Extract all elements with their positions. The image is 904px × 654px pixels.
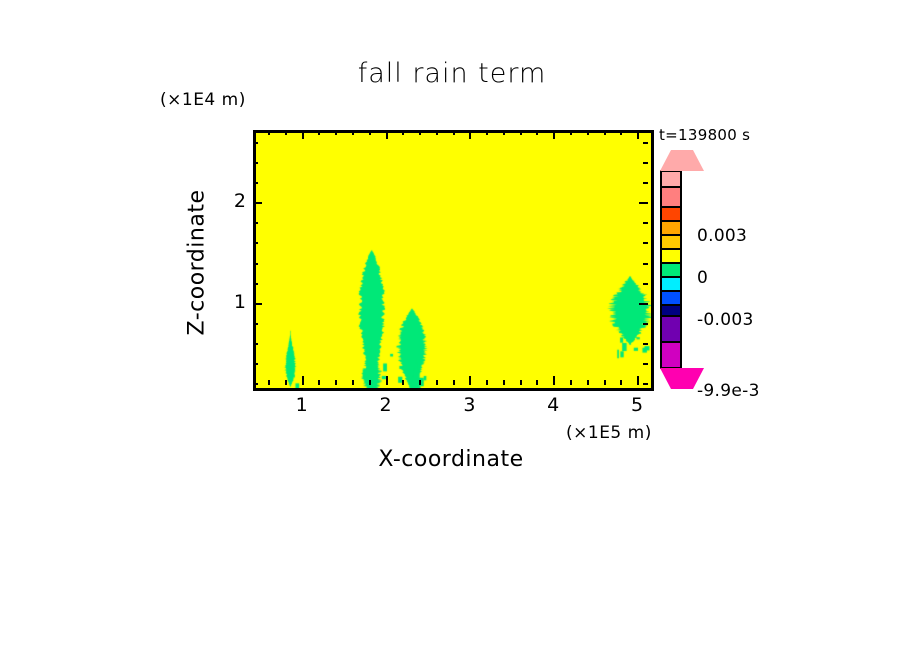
x-minor-tick-top — [536, 130, 538, 135]
x-minor-tick-top — [402, 130, 404, 135]
y-minor-tick-right — [643, 263, 648, 265]
y-minor-tick — [253, 383, 258, 385]
x-major-tick — [469, 376, 471, 385]
y-minor-tick — [253, 343, 258, 345]
y-major-tick — [253, 303, 262, 305]
y-minor-tick — [253, 222, 258, 224]
x-major-tick-top — [469, 130, 471, 139]
x-minor-tick — [436, 380, 438, 385]
x-minor-tick — [453, 380, 455, 385]
y-major-tick-right — [639, 303, 648, 305]
y-minor-tick-right — [643, 142, 648, 144]
x-minor-tick — [587, 380, 589, 385]
x-minor-tick-top — [453, 130, 455, 135]
y-minor-tick-right — [643, 363, 648, 365]
x-axis-title: X-coordinate — [253, 447, 649, 472]
y-minor-tick-right — [643, 222, 648, 224]
y-minor-tick-right — [643, 283, 648, 285]
y-minor-tick-right — [643, 182, 648, 184]
x-minor-tick-top — [318, 130, 320, 135]
x-tick-label: 1 — [287, 394, 317, 416]
x-minor-tick-top — [520, 130, 522, 135]
x-minor-tick — [335, 380, 337, 385]
x-minor-tick — [419, 380, 421, 385]
x-major-tick — [302, 376, 304, 385]
x-minor-tick — [570, 380, 572, 385]
x-minor-tick — [520, 380, 522, 385]
colorbar-band-salmon — [660, 186, 682, 208]
y-minor-tick — [253, 283, 258, 285]
x-minor-tick — [318, 380, 320, 385]
figure-root: fall rain term (×1E4 m) (×1E5 m) t=13980… — [0, 0, 904, 654]
colorbar-label: 0 — [697, 268, 708, 288]
x-minor-tick — [536, 380, 538, 385]
x-minor-tick — [503, 380, 505, 385]
x-minor-tick-top — [419, 130, 421, 135]
x-minor-tick-top — [352, 130, 354, 135]
x-major-tick-top — [302, 130, 304, 139]
contour-plot-area — [253, 130, 654, 391]
y-minor-tick-right — [643, 383, 648, 385]
x-minor-tick-top — [436, 130, 438, 135]
colorbar-label: -9.9e-3 — [697, 381, 760, 401]
colorbar-arrow-top — [660, 150, 704, 171]
x-minor-tick-top — [268, 130, 270, 135]
x-minor-tick-top — [587, 130, 589, 135]
contour-field-canvas — [256, 133, 651, 388]
colorbar-label: 0.003 — [697, 226, 747, 246]
x-minor-tick-top — [285, 130, 287, 135]
x-minor-tick-top — [369, 130, 371, 135]
y-tick-label: 1 — [216, 291, 246, 313]
x-tick-label: 5 — [622, 394, 652, 416]
x-minor-tick-top — [503, 130, 505, 135]
y-minor-tick-right — [643, 242, 648, 244]
chart-title: fall rain term — [0, 58, 904, 89]
y-minor-tick — [253, 263, 258, 265]
colorbar-band-purple — [660, 315, 682, 343]
y-minor-tick — [253, 323, 258, 325]
y-minor-tick-right — [643, 162, 648, 164]
x-tick-label: 4 — [538, 394, 568, 416]
x-minor-tick — [402, 380, 404, 385]
colorbar-label: -0.003 — [697, 310, 754, 330]
colorbar-band-magenta — [660, 341, 682, 369]
y-minor-tick-right — [643, 323, 648, 325]
x-minor-tick — [369, 380, 371, 385]
x-minor-tick — [604, 380, 606, 385]
y-tick-label: 2 — [216, 190, 246, 212]
x-minor-tick-top — [486, 130, 488, 135]
x-tick-label: 2 — [371, 394, 401, 416]
x-minor-tick — [486, 380, 488, 385]
x-major-tick-top — [637, 130, 639, 139]
x-minor-tick — [268, 380, 270, 385]
x-major-tick-top — [553, 130, 555, 139]
x-minor-tick — [285, 380, 287, 385]
y-minor-tick — [253, 363, 258, 365]
x-minor-tick-top — [604, 130, 606, 135]
x-minor-tick-top — [335, 130, 337, 135]
y-major-tick — [253, 202, 262, 204]
x-major-tick — [553, 376, 555, 385]
x-minor-tick-top — [620, 130, 622, 135]
colorbar — [660, 170, 682, 385]
y-minor-tick — [253, 242, 258, 244]
x-axis-units-label: (×1E5 m) — [566, 423, 652, 443]
y-minor-tick — [253, 142, 258, 144]
x-major-tick-top — [386, 130, 388, 139]
x-minor-tick — [620, 380, 622, 385]
x-tick-label: 3 — [454, 394, 484, 416]
y-minor-tick — [253, 162, 258, 164]
x-minor-tick-top — [570, 130, 572, 135]
y-minor-tick-right — [643, 343, 648, 345]
y-axis-title: Z-coordinate — [185, 53, 210, 473]
x-minor-tick — [352, 380, 354, 385]
y-minor-tick — [253, 182, 258, 184]
x-major-tick — [637, 376, 639, 385]
timestamp-annotation: t=139800 s — [659, 126, 750, 144]
x-major-tick — [386, 376, 388, 385]
y-major-tick-right — [639, 202, 648, 204]
